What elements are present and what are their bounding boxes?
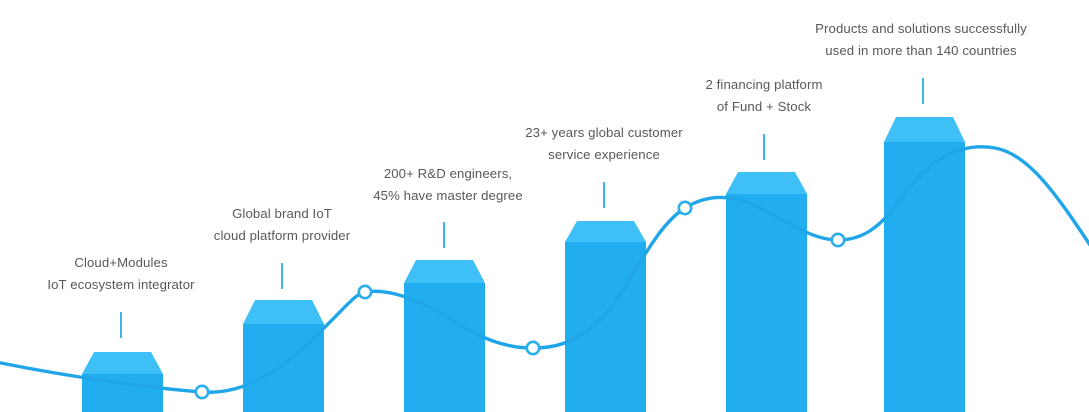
bar-5-top-face: [726, 172, 807, 194]
milestone-label-5: 2 financing platform of Fund + Stock: [688, 74, 840, 118]
milestone-label-6: Products and solutions successfully used…: [793, 18, 1049, 62]
bar-1-top-face: [82, 352, 163, 374]
milestone-label-1: Cloud+Modules IoT ecosystem integrator: [40, 252, 202, 296]
bar-5[interactable]: [726, 172, 807, 412]
milestone-label-1-line-2: IoT ecosystem integrator: [40, 274, 202, 296]
milestone-label-6-line-2: used in more than 140 countries: [793, 40, 1049, 62]
milestone-label-4: 23+ years global customer service experi…: [509, 122, 699, 166]
bar-3-top-face: [404, 260, 485, 283]
milestone-label-2-line-2: cloud platform provider: [200, 225, 364, 247]
bar-6-front-face: [884, 142, 965, 412]
milestone-label-4-line-1: 23+ years global customer: [509, 122, 699, 144]
trend-marker-5[interactable]: [832, 234, 844, 246]
bar-6[interactable]: [884, 117, 965, 412]
milestone-label-5-line-2: of Fund + Stock: [688, 96, 840, 118]
bar-6-top-face: [884, 117, 965, 142]
bar-3[interactable]: [404, 260, 485, 412]
bar-4-top-face: [565, 221, 646, 242]
bar-2[interactable]: [243, 300, 324, 412]
trend-marker-1[interactable]: [196, 386, 208, 398]
milestone-infographic: Cloud+Modules IoT ecosystem integrator G…: [0, 0, 1089, 412]
milestone-label-3-line-1: 200+ R&D engineers,: [362, 163, 534, 185]
milestone-label-3: 200+ R&D engineers, 45% have master degr…: [362, 163, 534, 207]
trend-marker-4[interactable]: [679, 202, 691, 214]
milestone-label-4-line-2: service experience: [509, 144, 699, 166]
milestone-label-5-line-1: 2 financing platform: [688, 74, 840, 96]
bar-4-front-face: [565, 242, 646, 412]
trend-marker-3[interactable]: [527, 342, 539, 354]
milestone-label-6-line-1: Products and solutions successfully: [793, 18, 1049, 40]
milestone-label-1-line-1: Cloud+Modules: [40, 252, 202, 274]
trend-marker-2[interactable]: [359, 286, 371, 298]
milestone-label-2-line-1: Global brand IoT: [200, 203, 364, 225]
milestone-label-2: Global brand IoT cloud platform provider: [200, 203, 364, 247]
bar-2-front-face: [243, 324, 324, 412]
milestone-label-3-line-2: 45% have master degree: [362, 185, 534, 207]
bar-2-top-face: [243, 300, 324, 324]
